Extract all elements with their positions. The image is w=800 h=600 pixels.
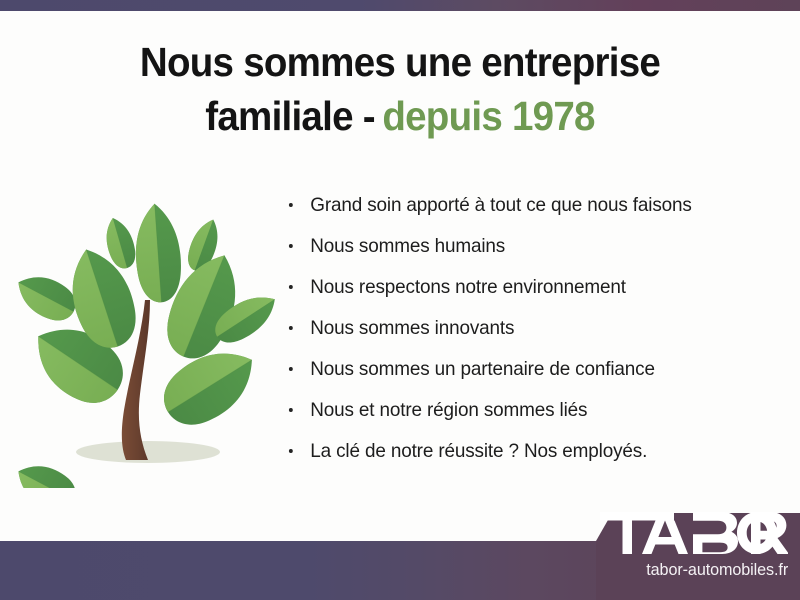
- bullet-dot-icon: [289, 367, 293, 371]
- slide-canvas: Nous sommes une entreprise familiale -de…: [0, 0, 800, 600]
- logo-url[interactable]: tabor-automobiles.fr: [545, 561, 794, 580]
- top-accent-bar: [0, 0, 800, 11]
- bullet-dot-icon: [289, 326, 293, 330]
- list-item-label: Nous sommes humains: [310, 235, 505, 257]
- list-item-label: La clé de notre réussite ? Nos employés.: [310, 440, 647, 462]
- bullet-dot-icon: [289, 285, 293, 289]
- headline-line-1: Nous sommes une entreprise: [140, 39, 660, 85]
- tree-svg: [8, 188, 276, 488]
- page-title: Nous sommes une entreprise familiale -de…: [24, 36, 776, 143]
- list-item-label: Nous et notre région sommes liés: [310, 399, 587, 421]
- bullet-dot-icon: [289, 408, 293, 412]
- headline-line-2-accent: depuis 1978: [382, 93, 594, 139]
- list-item: Grand soin apporté à tout ce que nous fa…: [286, 192, 771, 233]
- tabor-wordmark-icon: [600, 512, 788, 554]
- headline-line-2-plain: familiale -: [205, 93, 375, 139]
- list-item-label: Nous respectons notre environnement: [310, 276, 626, 298]
- list-item: Nous et notre région sommes liés: [286, 397, 771, 438]
- list-item-label: Nous sommes un partenaire de confiance: [310, 358, 655, 380]
- list-item: Nous sommes un partenaire de confiance: [286, 356, 771, 397]
- list-item-label: Grand soin apporté à tout ce que nous fa…: [310, 194, 691, 216]
- tabor-logo[interactable]: [600, 512, 788, 554]
- list-item: Nous sommes innovants: [286, 315, 771, 356]
- bullet-dot-icon: [289, 203, 293, 207]
- list-item: Nous respectons notre environnement: [286, 274, 771, 315]
- list-item-label: Nous sommes innovants: [310, 317, 514, 339]
- list-item: La clé de notre réussite ? Nos employés.: [286, 438, 771, 479]
- list-item: Nous sommes humains: [286, 233, 771, 274]
- bullet-dot-icon: [289, 244, 293, 248]
- ground-shadow: [76, 441, 220, 463]
- benefits-list: Grand soin apporté à tout ce que nous fa…: [286, 192, 786, 479]
- tree-illustration: [8, 188, 276, 488]
- bullet-dot-icon: [289, 449, 293, 453]
